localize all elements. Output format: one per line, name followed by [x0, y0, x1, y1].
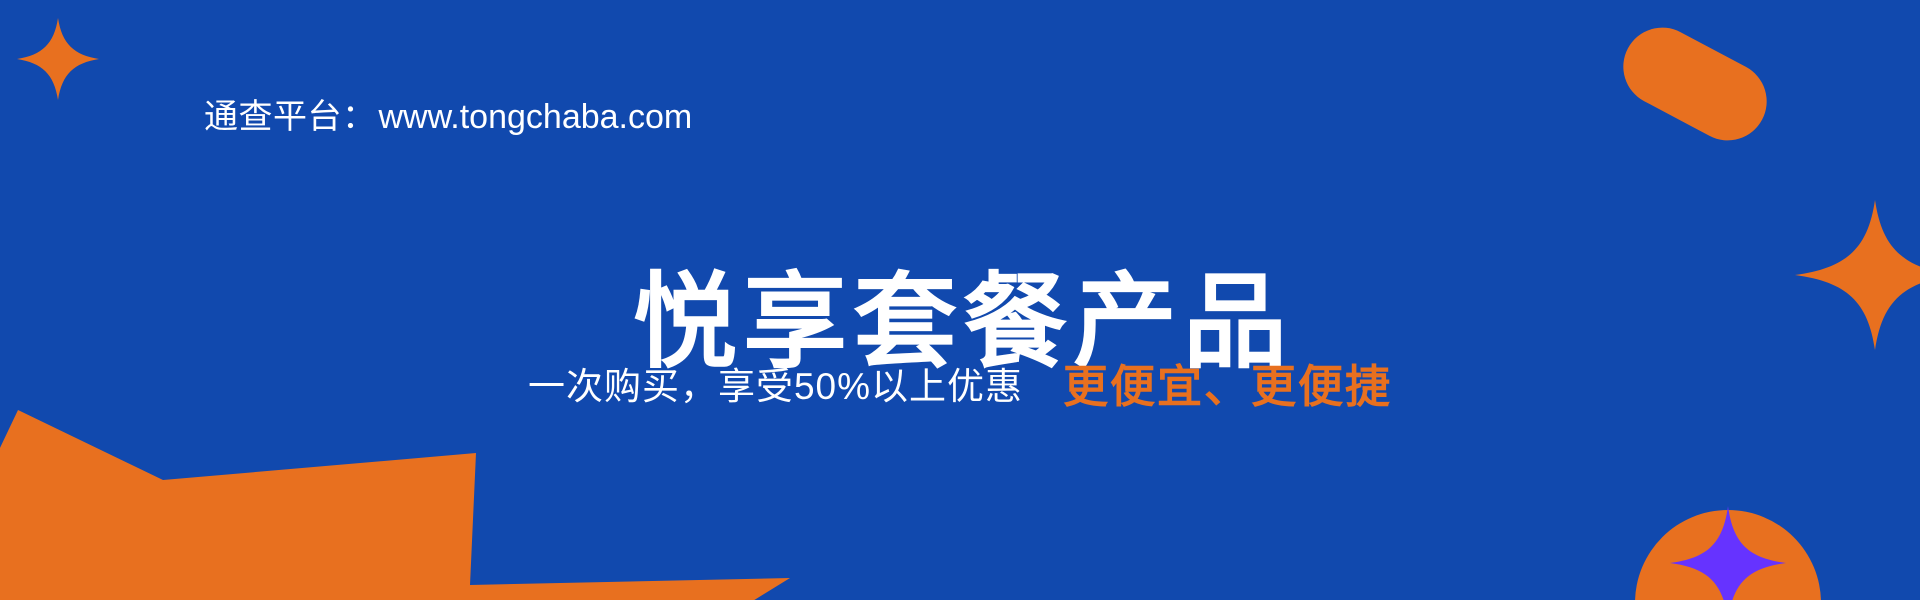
site-line: 通查平台：www.tongchaba.com — [204, 96, 692, 139]
subline-plain: 一次购买，享受50%以上优惠 — [528, 366, 1023, 407]
site-url[interactable]: www.tongchaba.com — [379, 98, 693, 136]
banner-content: 通查平台：www.tongchaba.com 悦享套餐产品 一次购买，享受50%… — [0, 0, 1920, 600]
site-label: 通查平台： — [204, 98, 377, 136]
subline-accent: 更便宜、更便捷 — [1063, 361, 1392, 412]
subline: 一次购买，享受50%以上优惠更便宜、更便捷 — [0, 358, 1920, 417]
promo-banner: 通查平台：www.tongchaba.com 悦享套餐产品 一次购买，享受50%… — [0, 0, 1920, 600]
